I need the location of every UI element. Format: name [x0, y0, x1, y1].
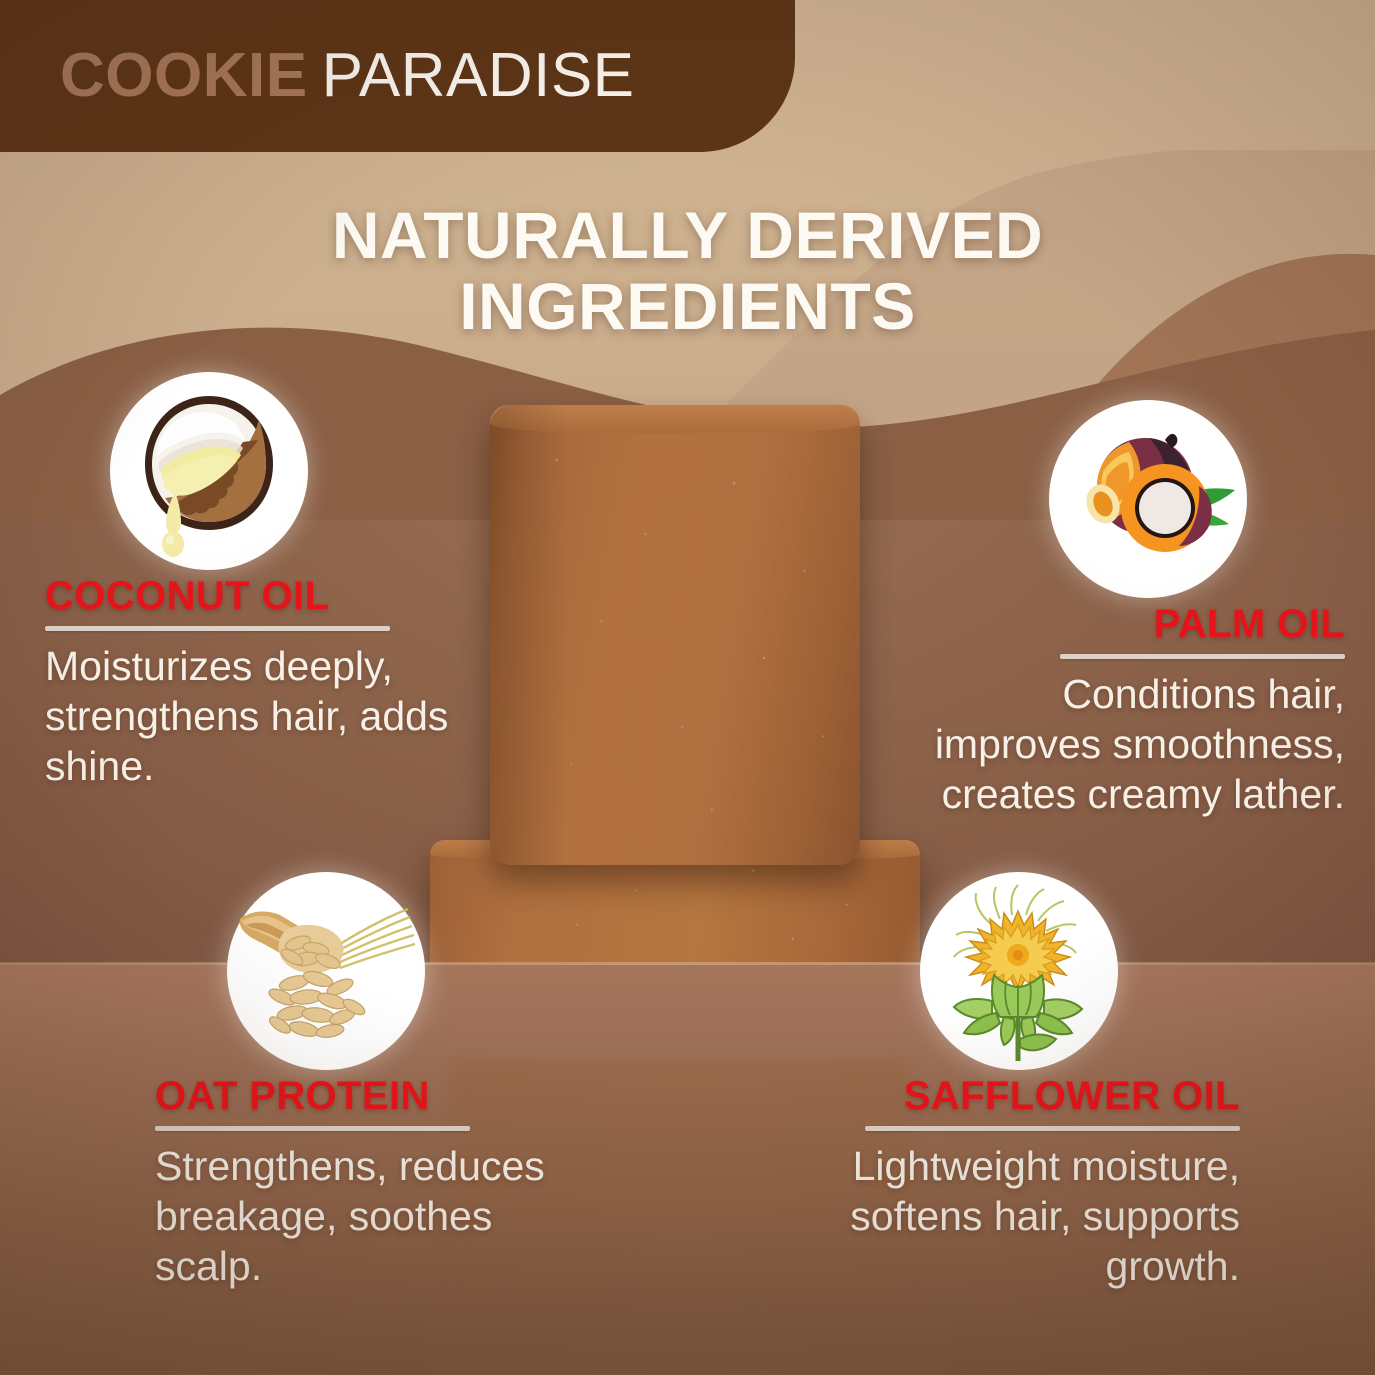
ingredient-title: COCONUT OIL [45, 574, 455, 618]
soap-bar-top-side-edge [490, 405, 568, 865]
ingredient-palm-oil: PALM OIL Conditions hair, improves smoot… [920, 400, 1345, 819]
brand-title: COOKIEPARADISE [60, 45, 635, 107]
ingredient-description: Conditions hair, improves smoothness, cr… [920, 669, 1345, 819]
ingredient-title: SAFFLOWER OIL [775, 1074, 1240, 1118]
ingredient-title: PALM OIL [920, 602, 1345, 646]
ingredient-divider [155, 1126, 470, 1131]
brand-name-second: PARADISE [322, 41, 635, 110]
soap-bar-top [490, 405, 860, 865]
ingredient-divider [45, 626, 390, 631]
ingredient-safflower-oil: SAFFLOWER OIL Lightweight moisture, soft… [775, 872, 1240, 1291]
oat-scoop-icon [227, 872, 425, 1070]
ingredient-divider [865, 1126, 1240, 1131]
brand-name-first: COOKIE [60, 41, 308, 110]
safflower-icon [920, 872, 1118, 1070]
ingredient-coconut-oil: COCONUT OIL Moisturizes deeply, strength… [45, 372, 455, 791]
palm-fruit-icon [1049, 400, 1247, 598]
ingredient-description: Moisturizes deeply, strengthens hair, ad… [45, 641, 455, 791]
ingredient-divider [1060, 654, 1345, 659]
page-title-line-2: INGREDIENTS [0, 271, 1375, 342]
infographic-poster: COOKIEPARADISE NATURALLY DERIVED INGREDI… [0, 0, 1375, 1375]
ingredient-title: OAT PROTEIN [155, 1074, 565, 1118]
page-title-line-1: NATURALLY DERIVED [332, 198, 1043, 272]
ingredient-description: Strengthens, reduces breakage, soothes s… [155, 1141, 565, 1291]
page-title: NATURALLY DERIVED INGREDIENTS [0, 200, 1375, 343]
ingredient-description: Lightweight moisture, softens hair, supp… [775, 1141, 1240, 1291]
coconut-icon [110, 372, 308, 570]
ingredient-oat-protein: OAT PROTEIN Strengthens, reduces breakag… [155, 872, 565, 1291]
brand-banner: COOKIEPARADISE [0, 0, 795, 152]
